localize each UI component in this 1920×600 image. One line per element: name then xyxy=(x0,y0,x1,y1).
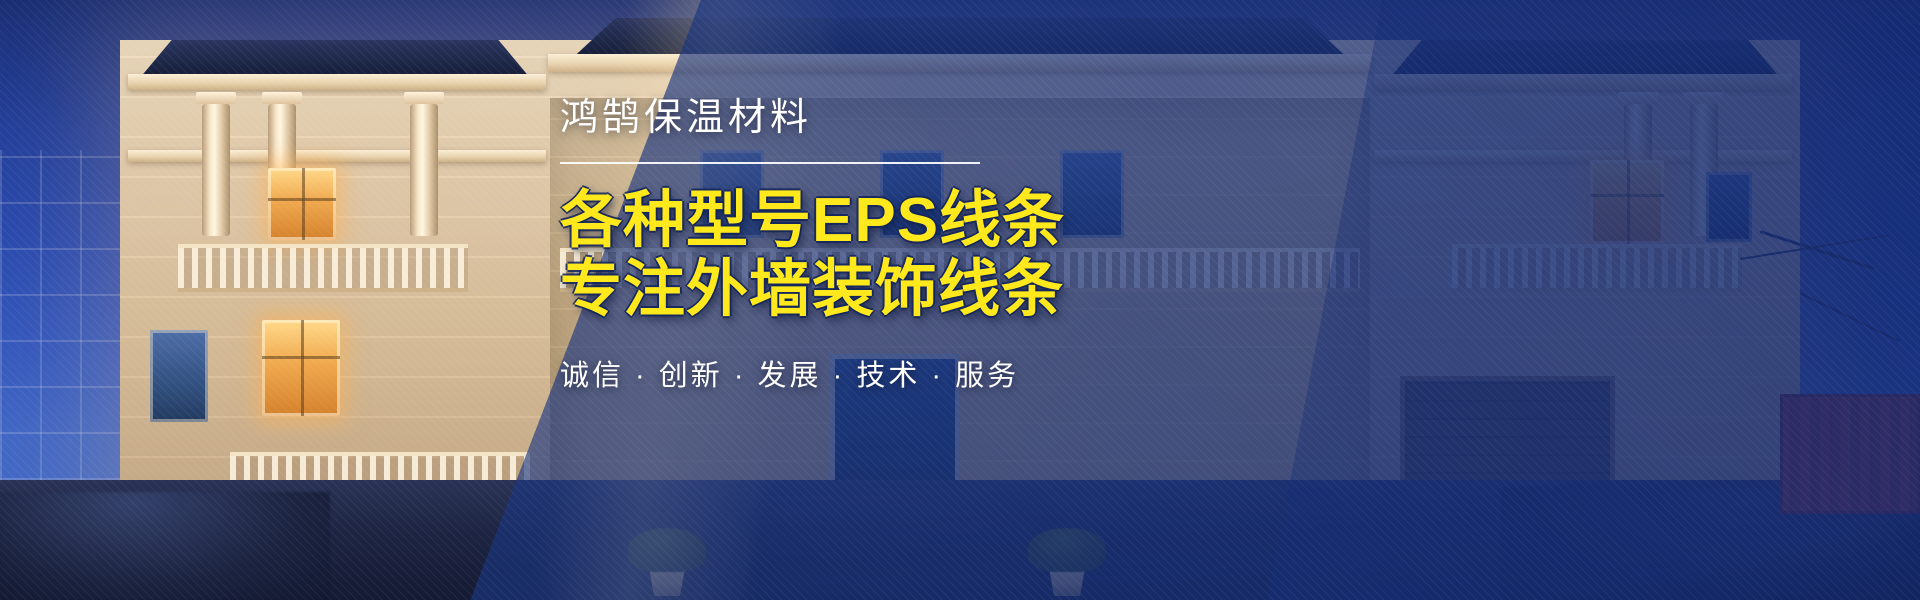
column xyxy=(202,104,230,236)
banner-copy: 鸿鹄保温材料 各种型号EPS线条 专注外墙装饰线条 诚信 · 创新 · 发展 ·… xyxy=(560,96,1100,396)
headline-line-2: 专注外墙装饰线条 xyxy=(560,255,1100,324)
divider-rule xyxy=(560,162,980,164)
column-capital xyxy=(262,92,302,104)
window-dark xyxy=(150,330,208,422)
cornice-band xyxy=(128,150,546,162)
cornice-left xyxy=(128,74,546,90)
roof-left xyxy=(120,40,550,76)
slogan: 诚信 · 创新 · 发展 · 技术 · 服务 xyxy=(560,358,1100,396)
column-capital xyxy=(196,92,236,104)
column-capital xyxy=(404,92,444,104)
headline: 各种型号EPS线条 专注外墙装饰线条 xyxy=(560,186,1100,325)
hero-banner: 鸿鹄保温材料 各种型号EPS线条 专注外墙装饰线条 诚信 · 创新 · 发展 ·… xyxy=(0,0,1920,600)
balustrade xyxy=(178,244,468,292)
headline-line-1: 各种型号EPS线条 xyxy=(560,186,1100,255)
window-lit xyxy=(262,320,340,416)
scaffolding xyxy=(0,150,130,480)
brand-name: 鸿鹄保温材料 xyxy=(560,96,1100,142)
column xyxy=(410,104,438,236)
window-lit xyxy=(268,168,336,240)
hedge-left xyxy=(0,492,330,600)
